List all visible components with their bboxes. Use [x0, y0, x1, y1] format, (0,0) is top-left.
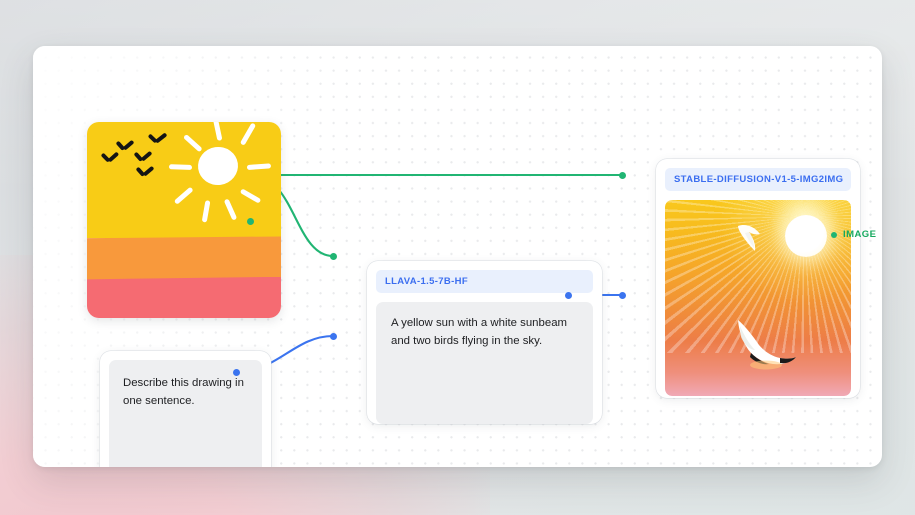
- drawing-band-orange: [87, 236, 281, 279]
- sd-title: STABLE-DIFFUSION-V1-5-IMG2IMG: [674, 174, 843, 185]
- port-sd-image-input[interactable]: [619, 172, 626, 179]
- workflow-canvas[interactable]: Describe this drawing in one sentence. L…: [33, 46, 882, 467]
- generated-image: [665, 200, 851, 396]
- prompt-text: Describe this drawing in one sentence.: [123, 375, 248, 410]
- llava-header: LLAVA-1.5-7B-HF: [376, 270, 593, 293]
- drawing-bird: [102, 152, 122, 165]
- prompt-body: Describe this drawing in one sentence.: [109, 360, 262, 467]
- app-root: Describe this drawing in one sentence. L…: [0, 0, 915, 515]
- sd-header: STABLE-DIFFUSION-V1-5-IMG2IMG: [665, 168, 851, 191]
- llava-node[interactable]: LLAVA-1.5-7B-HF A yellow sun with a whit…: [367, 261, 602, 424]
- port-llava-output[interactable]: [565, 292, 572, 299]
- generated-sun: [785, 215, 827, 257]
- drawing-bird: [149, 133, 169, 146]
- image-output-label[interactable]: IMAGE: [831, 229, 876, 240]
- llava-output-text: A yellow sun with a white sunbeam and tw…: [391, 315, 579, 350]
- llava-title: LLAVA-1.5-7B-HF: [385, 276, 468, 287]
- drawing-bird: [135, 151, 155, 164]
- output-label-text: IMAGE: [843, 229, 876, 240]
- llava-body: A yellow sun with a white sunbeam and tw…: [376, 302, 593, 424]
- drawing-bird: [137, 166, 157, 179]
- port-llava-prompt-input[interactable]: [330, 333, 337, 340]
- output-port-dot[interactable]: [831, 232, 837, 238]
- sd-body: [665, 200, 851, 396]
- port-sd-prompt-input[interactable]: [619, 292, 626, 299]
- port-prompt-output[interactable]: [233, 369, 240, 376]
- port-drawing-output[interactable]: [247, 218, 254, 225]
- drawing-band-red: [87, 277, 281, 318]
- generated-bird-lower: [726, 318, 802, 370]
- drawing-bird: [117, 140, 137, 153]
- stable-diffusion-node[interactable]: STABLE-DIFFUSION-V1-5-IMG2IMG: [656, 159, 860, 398]
- port-llava-image-input[interactable]: [330, 253, 337, 260]
- drawing-sun-ray: [169, 164, 192, 170]
- generated-bird-upper: [736, 222, 770, 254]
- prompt-node[interactable]: Describe this drawing in one sentence.: [100, 351, 271, 467]
